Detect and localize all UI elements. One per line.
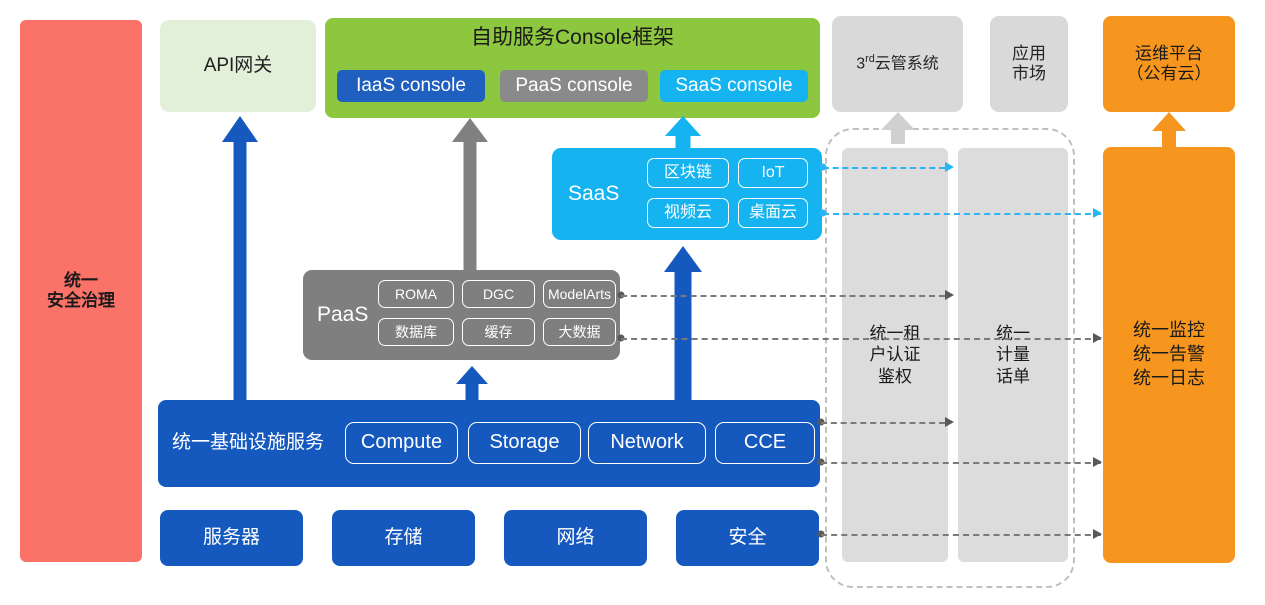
saas-item-blockchain[interactable]: 区块链 bbox=[647, 158, 729, 188]
third-party-cloud-mgmt-label: 3rd云管系统 bbox=[856, 53, 939, 74]
saas-item-desktop-cloud[interactable]: 桌面云 bbox=[738, 198, 808, 228]
ops-platform-line2: （公有云） bbox=[1127, 64, 1212, 84]
arrow-ops-panel-to-ops-platform bbox=[1152, 112, 1186, 150]
saas-layer-box: SaaS 区块链 IoT 视频云 桌面云 bbox=[552, 148, 822, 240]
unified-ops-line2: 统一告警 bbox=[1133, 343, 1205, 367]
paas-item-dgc[interactable]: DGC bbox=[462, 280, 535, 308]
app-market-box: 应用 市场 bbox=[990, 16, 1068, 112]
metering-billing-column: 统一 计量 话单 bbox=[958, 148, 1068, 562]
unified-ops-line3: 统一日志 bbox=[1133, 367, 1205, 391]
arrowhead-paas-to-ops-panel bbox=[1093, 333, 1102, 343]
security-governance-line2: 安全治理 bbox=[47, 291, 115, 311]
third-party-prefix: 3 bbox=[856, 56, 865, 73]
arrowhead-saas-to-tenant-auth bbox=[945, 162, 954, 172]
resource-box-network[interactable]: 网络 bbox=[504, 510, 647, 566]
connector-paas-to-tenant-auth bbox=[621, 295, 945, 297]
tenant-auth-line1: 统一租 bbox=[870, 323, 921, 344]
security-governance-line1: 统一 bbox=[47, 271, 115, 291]
unified-ops-panel: 统一监控 统一告警 统一日志 bbox=[1103, 147, 1235, 563]
resource-box-security[interactable]: 安全 bbox=[676, 510, 819, 566]
metering-billing-line3: 话单 bbox=[996, 366, 1030, 387]
unified-infrastructure-bar: 统一基础设施服务 Compute Storage Network CCE bbox=[158, 400, 820, 487]
metering-billing-line1: 统一 bbox=[996, 323, 1030, 344]
paas-item-database[interactable]: 数据库 bbox=[378, 318, 454, 346]
infra-item-cce[interactable]: CCE bbox=[715, 422, 815, 464]
console-framework-title: 自助服务Console框架 bbox=[325, 26, 820, 51]
arrow-infra-to-saas bbox=[664, 246, 702, 402]
third-party-superscript: rd bbox=[865, 53, 875, 65]
resource-box-storage[interactable]: 存储 bbox=[332, 510, 475, 566]
tenant-auth-column: 统一租 户认证 鉴权 bbox=[842, 148, 948, 562]
api-gateway-box: API网关 bbox=[160, 20, 316, 112]
resource-box-server[interactable]: 服务器 bbox=[160, 510, 303, 566]
app-market-line1: 应用 bbox=[1012, 44, 1046, 64]
paas-item-bigdata[interactable]: 大数据 bbox=[543, 318, 616, 346]
tenant-auth-line2: 户认证 bbox=[870, 344, 921, 365]
paas-layer-label: PaaS bbox=[317, 270, 368, 360]
connector-infra-to-ops-panel bbox=[821, 462, 1101, 464]
paas-layer-box: PaaS ROMA DGC ModelArts 数据库 缓存 大数据 bbox=[303, 270, 620, 360]
iaas-console-chip[interactable]: IaaS console bbox=[337, 70, 485, 102]
arrowhead-infra-to-tenant-auth bbox=[945, 417, 954, 427]
console-framework-box: 自助服务Console框架 IaaS console PaaS console … bbox=[325, 18, 820, 118]
third-party-suffix: 云管系统 bbox=[875, 56, 939, 73]
connector-resource-to-ops-panel bbox=[821, 534, 1101, 536]
connector-paas-to-ops-panel bbox=[621, 338, 1101, 340]
saas-item-iot[interactable]: IoT bbox=[738, 158, 808, 188]
third-party-cloud-mgmt-box: 3rd云管系统 bbox=[832, 16, 963, 112]
connector-saas-to-ops-panel bbox=[823, 213, 1101, 215]
infra-item-network[interactable]: Network bbox=[588, 422, 706, 464]
arrow-infra-to-api-gateway bbox=[222, 116, 258, 402]
arrow-paas-to-console bbox=[452, 118, 488, 272]
saas-console-chip[interactable]: SaaS console bbox=[660, 70, 808, 102]
app-market-line2: 市场 bbox=[1012, 64, 1046, 84]
arrowhead-resource-to-ops-panel bbox=[1093, 529, 1102, 539]
paas-console-chip[interactable]: PaaS console bbox=[500, 70, 648, 102]
arrowhead-infra-to-ops-panel bbox=[1093, 457, 1102, 467]
metering-billing-line2: 计量 bbox=[996, 344, 1030, 365]
connector-infra-to-tenant-auth bbox=[821, 422, 945, 424]
tenant-auth-line3: 鉴权 bbox=[870, 366, 921, 387]
arrow-saas-to-console bbox=[665, 116, 701, 150]
paas-item-modelarts[interactable]: ModelArts bbox=[543, 280, 616, 308]
arrow-shared-to-third-party bbox=[880, 112, 916, 144]
unified-infrastructure-label: 统一基础设施服务 bbox=[172, 400, 324, 487]
arrowhead-paas-to-tenant-auth bbox=[945, 290, 954, 300]
paas-item-cache[interactable]: 缓存 bbox=[462, 318, 535, 346]
unified-ops-line1: 统一监控 bbox=[1133, 319, 1205, 343]
ops-platform-public-cloud-box: 运维平台 （公有云） bbox=[1103, 16, 1235, 112]
arrow-infra-to-paas bbox=[456, 366, 488, 402]
saas-layer-label: SaaS bbox=[568, 148, 619, 240]
connector-saas-to-tenant-auth bbox=[823, 167, 945, 169]
infra-item-storage[interactable]: Storage bbox=[468, 422, 581, 464]
ops-platform-line1: 运维平台 bbox=[1127, 44, 1212, 64]
infra-item-compute[interactable]: Compute bbox=[345, 422, 458, 464]
arrowhead-saas-to-ops-panel bbox=[1093, 208, 1102, 218]
paas-item-roma[interactable]: ROMA bbox=[378, 280, 454, 308]
api-gateway-label: API网关 bbox=[204, 55, 273, 77]
security-governance-panel: 统一 安全治理 bbox=[20, 20, 142, 562]
saas-item-video-cloud[interactable]: 视频云 bbox=[647, 198, 729, 228]
architecture-diagram: 统一 安全治理 API网关 自助服务Console框架 IaaS console… bbox=[0, 0, 1265, 605]
